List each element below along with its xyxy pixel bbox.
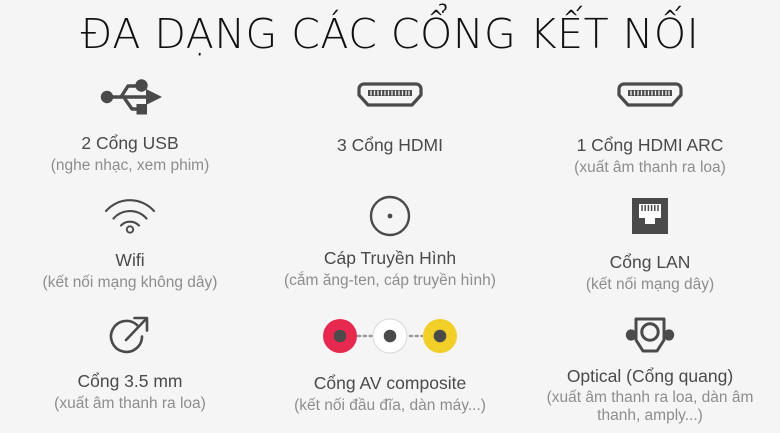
feature-lan: Cổng LAN (kết nối mạng dây) [520, 188, 780, 308]
feature-sublabel: (xuất âm thanh ra loa) [54, 394, 206, 413]
feature-hdmi-arc: 1 Cổng HDMI ARC (xuất âm thanh ra loa) [520, 72, 780, 188]
headphone-jack-icon [106, 314, 154, 358]
feature-label: Wifi [115, 249, 144, 271]
feature-sublabel: (nghe nhạc, xem phim) [51, 156, 210, 175]
feature-label: 2 Cổng USB [81, 132, 178, 154]
feature-wifi: Wifi (kết nối mạng không dây) [0, 188, 260, 308]
optical-port-icon [624, 314, 676, 358]
feature-label: Cổng LAN [610, 251, 691, 273]
feature-sublabel: (kết nối mạng dây) [586, 275, 714, 294]
feature-label: Optical (Cổng quang) [567, 365, 733, 387]
usb-icon [94, 74, 166, 118]
feature-sublabel: (cắm ăng-ten, cáp truyền hình) [284, 271, 496, 290]
feature-label: 3 Cổng HDMI [337, 134, 443, 156]
feature-av-composite: Cổng AV composite (kết nối đầu đĩa, dàn … [260, 308, 520, 433]
feature-hdmi: 3 Cổng HDMI [260, 72, 520, 188]
feature-sublabel: (kết nối mạng không dây) [43, 273, 218, 292]
feature-label: Cổng 3.5 mm [77, 370, 182, 392]
hdmi-arc-port-icon [615, 74, 685, 118]
feature-sublabel: (xuất âm thanh ra loa) [574, 158, 726, 177]
coaxial-cable-icon [368, 194, 412, 238]
lan-port-icon [630, 194, 670, 238]
feature-label: 1 Cổng HDMI ARC [577, 134, 724, 156]
feature-label: Cổng AV composite [314, 372, 466, 394]
feature-usb: 2 Cổng USB (nghe nhạc, xem phim) [0, 72, 260, 188]
page-title: ĐA DẠNG CÁC CỔNG KẾT NỐI [0, 8, 780, 60]
wifi-icon [102, 194, 158, 238]
feature-sublabel: (kết nối đầu đĩa, dàn máy...) [294, 396, 486, 415]
feature-label: Cáp Truyền Hình [324, 247, 456, 269]
hdmi-port-icon [355, 74, 425, 118]
feature-optical: Optical (Cổng quang) (xuất âm thanh ra l… [520, 308, 780, 433]
av-composite-icon [321, 314, 459, 358]
feature-headphone-jack: Cổng 3.5 mm (xuất âm thanh ra loa) [0, 308, 260, 433]
connectivity-feature-grid: 2 Cổng USB (nghe nhạc, xem phim) 3 Cổng … [0, 72, 780, 433]
feature-coaxial: Cáp Truyền Hình (cắm ăng-ten, cáp truyền… [260, 188, 520, 308]
feature-sublabel: (xuất âm thanh ra loa, dàn âm thanh, amp… [535, 389, 765, 425]
